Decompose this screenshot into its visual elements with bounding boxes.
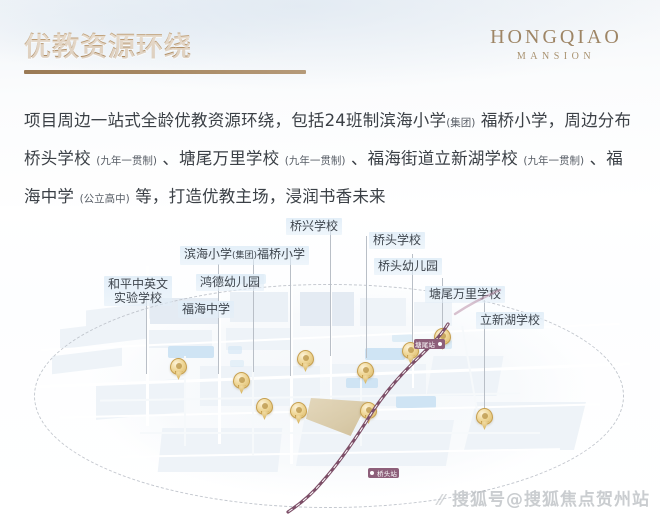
pin-center-icon (482, 413, 488, 419)
copy-line2-c: 、福海街道立新 (351, 149, 468, 168)
map-marker-pin[interactable] (476, 408, 493, 430)
watermark: ⁄⁄ 搜狐号@搜狐焦点贺州站 (438, 485, 650, 510)
pin-tip-icon (362, 375, 370, 384)
pin-center-icon (408, 347, 414, 353)
station-dot-icon (369, 470, 375, 476)
pin-center-icon (366, 407, 372, 413)
map-marker-pin[interactable] (360, 402, 377, 424)
copy-line3-paren1: (九年一贯制) (523, 155, 584, 167)
map-marker-pin[interactable] (256, 398, 273, 420)
map-label-line1: 和平中英文 (108, 277, 168, 291)
pin-tip-icon (481, 421, 489, 430)
label-leader-line (290, 254, 291, 376)
map-label-fuhaimiddleschool[interactable]: 福海中学 (178, 301, 234, 318)
map-marker-pin[interactable] (357, 362, 374, 384)
map-label-line2: 实验学校 (114, 291, 162, 305)
description-paragraph: 项目周边一站式全龄优教资源环绕，包括24班制滨海小学(集团) 福桥小学，周边分布… (24, 103, 638, 217)
label-leader-line (366, 236, 367, 358)
watermark-slash-icon: ⁄⁄ (438, 491, 445, 509)
map-label-qiaotoukindergarten[interactable]: 桥头幼儿园 (374, 258, 442, 275)
map-label-suffix: 福桥小学 (257, 247, 305, 261)
pin-tip-icon (407, 355, 415, 364)
pin-center-icon (239, 377, 245, 383)
pin-tip-icon (261, 411, 269, 420)
pin-center-icon (363, 367, 369, 373)
map-marker-pin[interactable] (290, 402, 307, 424)
map-label-prefix: 滨海小学 (184, 247, 232, 261)
copy-line1-a: 项目周边一站式全龄优教资源环绕，包括24班制滨海小学 (24, 111, 446, 130)
copy-line3-c: 等，打造优教主场，浸润书香未来 (135, 187, 386, 206)
brand-logo: HONGQIAO MANSION (476, 26, 636, 62)
metro-station-qiaotou[interactable]: 桥头站 (368, 468, 399, 478)
pin-tip-icon (302, 363, 310, 372)
copy-line1-paren: (集团) (446, 117, 475, 129)
copy-line3-paren2: (公立高中) (80, 193, 130, 205)
metro-station-tangwei[interactable]: 塘尾站 (414, 339, 445, 349)
location-map[interactable]: 和平中英文 实验学校 滨海小学(集团)福桥小学 鸿德幼儿园 福海中学 桥兴学校 … (0, 206, 660, 516)
copy-line1-b: 福桥小 (481, 111, 531, 130)
copy-line2-paren2: (九年一贯制) (285, 155, 346, 167)
map-label-hongdekindergarten[interactable]: 鸿德幼儿园 (196, 274, 264, 291)
pin-center-icon (296, 407, 302, 413)
map-marker-pin[interactable] (233, 372, 250, 394)
page-title: 优教资源环绕 (24, 25, 192, 64)
map-label-paren: (集团) (232, 251, 257, 261)
pin-tip-icon (295, 415, 303, 424)
map-label-hepingzhongyingwen[interactable]: 和平中英文 实验学校 (104, 276, 172, 306)
map-label-tangweiwanli[interactable]: 塘尾万里学校 (425, 286, 505, 303)
label-leader-line (330, 226, 331, 356)
station-dot-icon (437, 341, 443, 347)
pin-center-icon (262, 403, 268, 409)
slide-header: 优教资源环绕 HONGQIAO MANSION (0, 0, 660, 92)
map-label-qiaoxingschool[interactable]: 桥兴学校 (286, 218, 342, 235)
station-label: 桥头站 (377, 468, 397, 478)
pin-center-icon (440, 333, 446, 339)
map-marker-pin[interactable] (297, 350, 314, 372)
watermark-text: 搜狐号@搜狐焦点贺州站 (452, 490, 650, 510)
brand-name: HONGQIAO (476, 26, 636, 49)
brand-subtitle: MANSION (476, 51, 636, 62)
label-leader-line (146, 294, 147, 374)
pin-center-icon (176, 363, 182, 369)
pin-tip-icon (238, 385, 246, 394)
map-label-binhaifuqiao[interactable]: 滨海小学(集团)福桥小学 (180, 246, 309, 265)
map-marker-pin[interactable] (170, 358, 187, 380)
pin-tip-icon (175, 371, 183, 380)
map-label-lixinhuschool[interactable]: 立新湖学校 (476, 312, 544, 329)
pin-center-icon (303, 355, 309, 361)
copy-line2-b: 、塘尾万里学校 (162, 149, 279, 168)
header-divider-accent (24, 70, 306, 74)
pin-tip-icon (365, 415, 373, 424)
station-label: 塘尾站 (415, 339, 435, 349)
copy-line2-paren1: (九年一贯制) (96, 155, 157, 167)
map-label-qiaotouschool[interactable]: 桥头学校 (369, 232, 425, 249)
slide-root: 优教资源环绕 HONGQIAO MANSION 项目周边一站式全龄优教资源环绕，… (0, 0, 660, 516)
copy-line3-a: 湖学校 (468, 149, 518, 168)
